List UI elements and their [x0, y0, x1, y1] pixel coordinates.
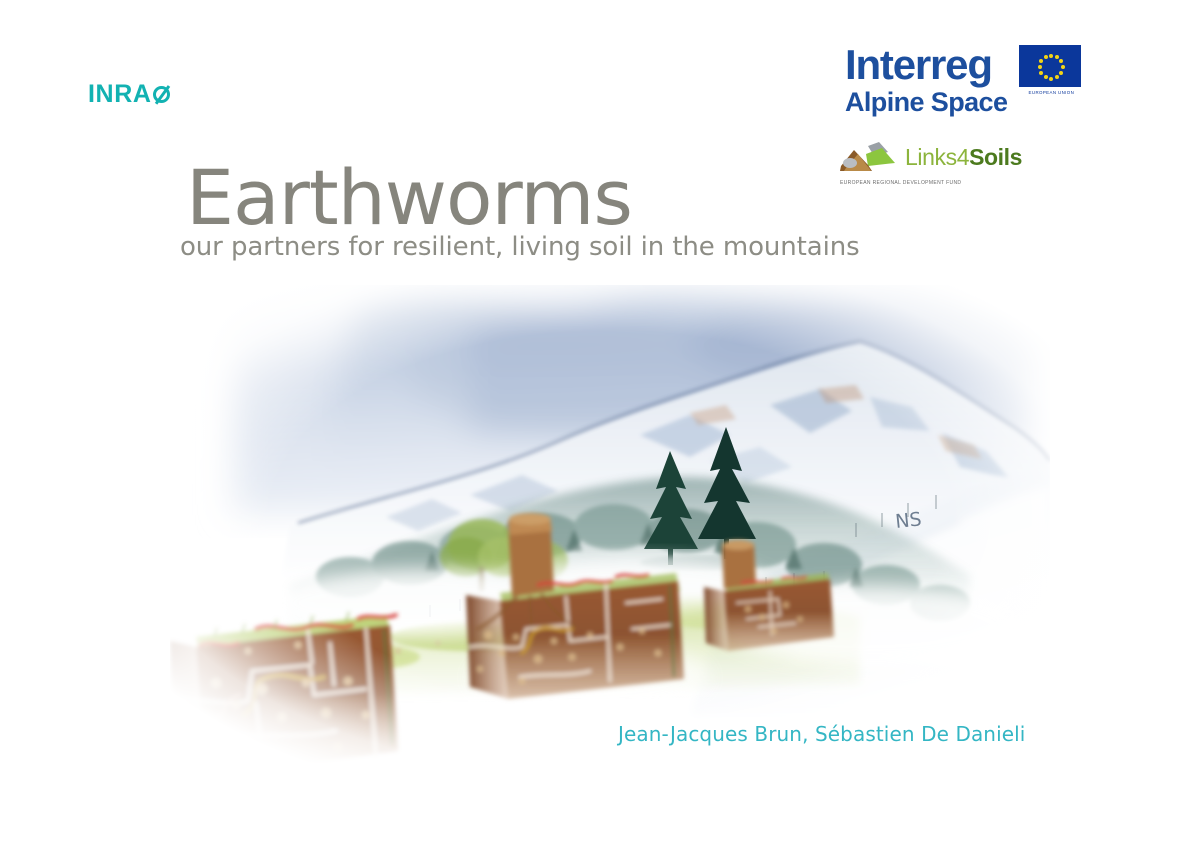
eu-star-icon — [1044, 55, 1048, 59]
eu-star-icon — [1059, 59, 1063, 63]
eu-star-icon — [1049, 77, 1053, 81]
eu-flag-icon — [1019, 45, 1081, 87]
links4soils-wordmark: Links4Soils — [905, 146, 1022, 169]
eu-star-icon — [1044, 75, 1048, 79]
cover-illustration: NS — [170, 285, 1050, 765]
eu-star-icon — [1061, 65, 1065, 69]
inrae-wordmark: INRA — [88, 82, 152, 107]
interreg-subtitle: Alpine Space — [845, 89, 1007, 116]
authors-line: Jean-Jacques Brun, Sébastien De Danieli — [618, 722, 1025, 746]
eu-flag-caption: EUROPEAN UNION — [1019, 90, 1083, 95]
eu-star-icon — [1039, 71, 1043, 75]
page-subtitle: our partners for resilient, living soil … — [180, 232, 860, 263]
page-title: Earthworms — [186, 160, 632, 236]
eu-star-icon — [1039, 59, 1043, 63]
eu-emblem: EUROPEAN UNION — [1019, 45, 1083, 95]
cover-page: INRA Interreg Alpine Space EUROPEAN UNIO… — [0, 0, 1200, 846]
links4soils-name-part-2: Soils — [969, 144, 1022, 170]
inrae-circle-slash-icon — [153, 85, 173, 105]
eu-star-icon — [1049, 54, 1053, 58]
interreg-logo: Interreg Alpine Space EUROPEAN UNION — [845, 45, 1115, 116]
eu-star-icon — [1055, 75, 1059, 79]
eu-star-icon — [1038, 65, 1042, 69]
eu-star-icon — [1055, 55, 1059, 59]
interreg-title: Interreg — [845, 45, 1007, 85]
links4soils-logo: Links4Soils EUROPEAN REGIONAL DEVELOPMEN… — [838, 140, 1038, 186]
eu-star-icon — [1059, 71, 1063, 75]
links4soils-caption: EUROPEAN REGIONAL DEVELOPMENT FUND — [840, 180, 1038, 186]
interreg-wordmark-group: Interreg Alpine Space — [845, 45, 1007, 116]
links4soils-name-part-1: Links4 — [905, 144, 969, 170]
inrae-logo: INRA — [88, 82, 173, 107]
mountain-layers-icon — [838, 140, 898, 174]
